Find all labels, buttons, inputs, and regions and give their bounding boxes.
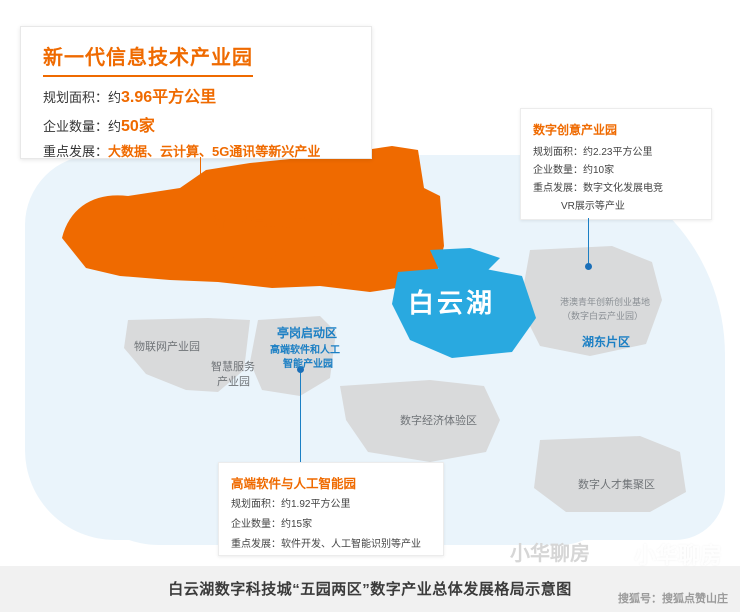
talent-zone-label: 数字人才集聚区	[578, 478, 655, 493]
creative-park-line-2: 企业数量：约10家	[533, 161, 614, 176]
creative-park-line-4: VR展示等产业	[561, 197, 625, 212]
caption-text: 白云湖数字科技城“五园两区”数字产业总体发展格局示意图	[0, 578, 740, 599]
caption-bar: 白云湖数字科技城“五园两区”数字产业总体发展格局示意图	[0, 566, 740, 612]
hero-line-focus: 重点发展：大数据、云计算、5G通讯等新兴产业	[43, 141, 320, 160]
hero-leader-line	[200, 157, 201, 219]
creative-park-line-3: 重点发展：数字文化发展电竞	[533, 179, 663, 194]
tinggang-zone-sub-2: 智能产业园	[283, 358, 333, 372]
hero-line-area: 规划面积：约3.96平方公里	[43, 83, 216, 107]
tinggang-zone-title: 亭岗启动区	[277, 325, 337, 341]
hero-count-value: 50家	[121, 118, 155, 135]
hero-focus-label: 重点发展：	[43, 144, 108, 159]
map-canvas: 新一代信息技术产业园 规划面积：约3.96平方公里 企业数量：约50家 重点发展…	[0, 0, 740, 612]
digital-economy-label: 数字经济体验区	[400, 414, 477, 429]
smart-service-park-label-2: 产业园	[217, 375, 250, 390]
ganggao-base-label-1: 港澳青年创新创业基地	[560, 296, 650, 310]
creative-park-leader-line	[588, 218, 589, 266]
software-park-line-1: 规划面积：约1.92平方公里	[231, 495, 350, 510]
software-park-box: 高端软件与人工智能园 规划面积：约1.92平方公里 企业数量：约15家 重点发展…	[218, 462, 444, 556]
smart-service-park-label-1: 智慧服务	[211, 360, 255, 375]
hero-line-count: 企业数量：约50家	[43, 112, 155, 136]
creative-park-line-1: 规划面积：约2.23平方公里	[533, 143, 652, 158]
hero-leader-dot	[197, 216, 204, 223]
creative-park-title: 数字创意产业园	[533, 121, 617, 138]
tinggang-zone-sub-1: 高端软件和人工	[270, 344, 340, 358]
creative-park-leader-dot	[585, 263, 592, 270]
software-park-title: 高端软件与人工智能园	[231, 473, 356, 492]
hero-area-value: 3.96平方公里	[121, 89, 216, 106]
hero-title: 新一代信息技术产业园	[43, 41, 253, 77]
hero-count-prefix: 约	[108, 119, 121, 134]
software-park-line-3: 重点发展：软件开发、人工智能识别等产业	[231, 535, 421, 550]
hudong-zone-label: 湖东片区	[582, 334, 630, 350]
ganggao-base-label-2: （数字白云产业园）	[562, 310, 643, 324]
hero-callout-box: 新一代信息技术产业园 规划面积：约3.96平方公里 企业数量：约50家 重点发展…	[20, 26, 372, 159]
iot-park-label: 物联网产业园	[134, 340, 200, 355]
huangjinwei-label: 黄金围	[232, 238, 331, 282]
hero-area-label: 规划面积：	[43, 90, 108, 105]
hero-focus-value: 大数据、云计算、5G通讯等新兴产业	[108, 144, 320, 159]
hero-area-prefix: 约	[108, 90, 121, 105]
software-park-line-2: 企业数量：约15家	[231, 515, 312, 530]
industrial-park-pin-label: 新一代信息技术产业园	[212, 212, 342, 231]
baiyun-lake-label: 白云湖	[408, 283, 495, 320]
hero-count-label: 企业数量：	[43, 119, 108, 134]
software-park-leader-line	[300, 372, 301, 462]
talent-zone-area	[534, 436, 686, 512]
creative-park-box: 数字创意产业园 规划面积：约2.23平方公里 企业数量：约10家 重点发展：数字…	[520, 108, 712, 220]
